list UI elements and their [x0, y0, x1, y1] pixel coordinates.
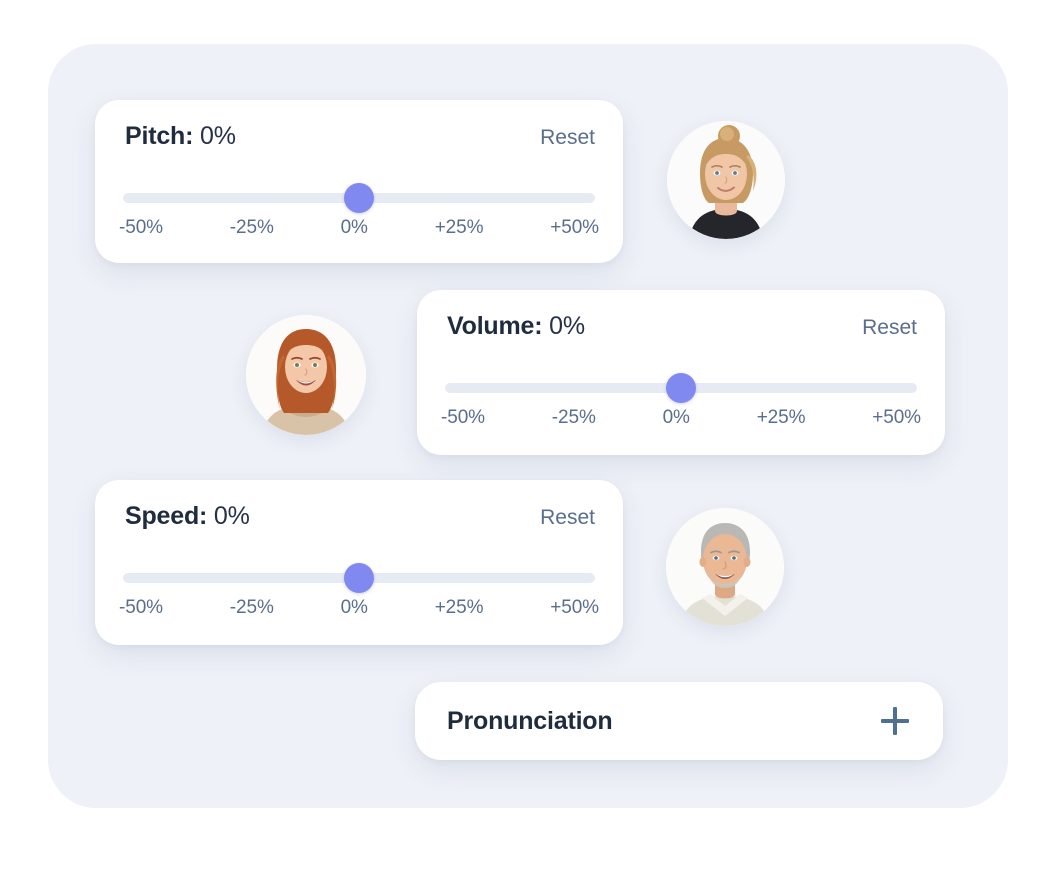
speed-slider[interactable]	[123, 564, 595, 598]
tick-label: 0%	[341, 597, 368, 619]
tick-label: 0%	[663, 407, 690, 429]
pitch-value: 0%	[200, 122, 236, 150]
speed-reset-button[interactable]: Reset	[540, 506, 595, 530]
tick-label: -50%	[441, 407, 485, 429]
speed-tick-labels: -50% -25% 0% +25% +50%	[123, 597, 595, 619]
tick-label: -25%	[230, 217, 274, 239]
volume-tick-labels: -50% -25% 0% +25% +50%	[445, 407, 917, 429]
tick-label: +25%	[757, 407, 806, 429]
speed-card-header: Speed: 0% Reset	[125, 502, 595, 531]
avatar-woman-bun[interactable]	[667, 121, 785, 239]
avatar-man-grey[interactable]	[666, 508, 784, 626]
tick-label: +25%	[435, 597, 484, 619]
volume-slider-thumb[interactable]	[666, 373, 696, 403]
avatar-woman-redhead-image	[246, 315, 366, 435]
tick-label: +50%	[550, 597, 599, 619]
avatar-woman-redhead[interactable]	[246, 315, 366, 435]
pronunciation-title: Pronunciation	[447, 707, 612, 736]
volume-label: Volume:	[447, 312, 542, 340]
volume-slider-card: Volume: 0% Reset -50% -25% 0% +25% +50%	[417, 290, 945, 455]
pitch-card-header: Pitch: 0% Reset	[125, 122, 595, 151]
avatar-woman-bun-image	[667, 121, 785, 239]
pitch-tick-labels: -50% -25% 0% +25% +50%	[123, 217, 595, 239]
pitch-slider[interactable]	[123, 184, 595, 218]
tick-label: 0%	[341, 217, 368, 239]
pitch-label: Pitch:	[125, 122, 193, 150]
pitch-slider-card: Pitch: 0% Reset -50% -25% 0% +25% +50%	[95, 100, 623, 263]
speed-value: 0%	[214, 502, 250, 530]
pitch-slider-thumb[interactable]	[344, 183, 374, 213]
speed-label: Speed:	[125, 502, 207, 530]
tick-label: +50%	[872, 407, 921, 429]
speed-slider-card: Speed: 0% Reset -50% -25% 0% +25% +50%	[95, 480, 623, 645]
tick-label: +50%	[550, 217, 599, 239]
tick-label: -50%	[119, 597, 163, 619]
screen-root: Pitch: 0% Reset -50% -25% 0% +25% +50% V…	[0, 0, 1052, 870]
avatar-man-grey-image	[666, 508, 784, 626]
plus-icon[interactable]	[881, 707, 909, 735]
pronunciation-card[interactable]: Pronunciation	[415, 682, 943, 760]
tick-label: -25%	[552, 407, 596, 429]
volume-slider[interactable]	[445, 374, 917, 408]
volume-value: 0%	[549, 312, 585, 340]
tick-label: -50%	[119, 217, 163, 239]
volume-title: Volume: 0%	[447, 312, 585, 341]
tick-label: -25%	[230, 597, 274, 619]
volume-reset-button[interactable]: Reset	[862, 316, 917, 340]
pitch-title: Pitch: 0%	[125, 122, 236, 151]
speed-slider-thumb[interactable]	[344, 563, 374, 593]
volume-card-header: Volume: 0% Reset	[447, 312, 917, 341]
pitch-reset-button[interactable]: Reset	[540, 126, 595, 150]
speed-title: Speed: 0%	[125, 502, 250, 531]
tick-label: +25%	[435, 217, 484, 239]
